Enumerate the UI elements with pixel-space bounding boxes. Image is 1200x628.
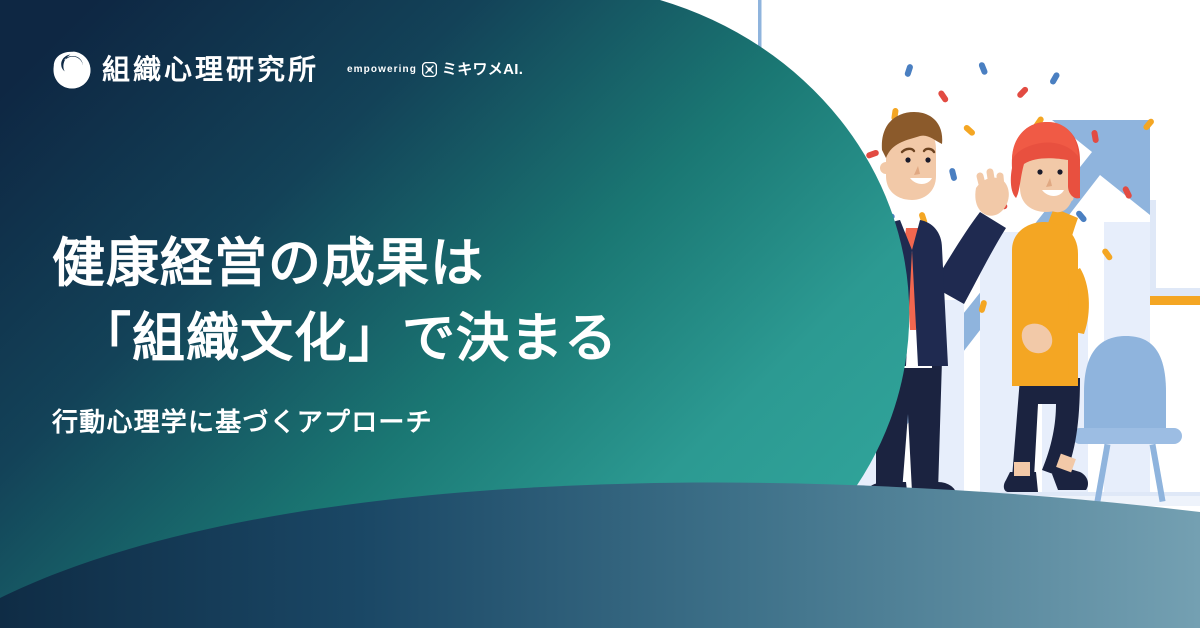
page-title: 健康経営の成果は 「組織文化」で決まる [52,226,618,377]
spiral-circle-logo-icon [52,50,92,90]
empowering-label: empowering [347,65,417,75]
headline-line-1: 健康経営の成果は [52,226,618,301]
brand-logo-lockup[interactable]: 組織心理研究所 empowering ミキワメAI. [52,50,523,90]
headline-line-2: 「組織文化」で決まる [52,301,618,376]
hero-banner: 1 [0,0,1200,628]
banner-content: 組織心理研究所 empowering ミキワメAI. 健康経営の成果は 「組織文… [0,0,1200,628]
empowering-group: empowering ミキワメAI. [347,62,523,78]
brand-name: 組織心理研究所 [102,56,319,84]
product-name: ミキワメAI. [442,62,523,77]
page-subtitle: 行動心理学に基づくアプローチ [52,406,433,440]
mikiwame-logo-icon [422,62,437,77]
